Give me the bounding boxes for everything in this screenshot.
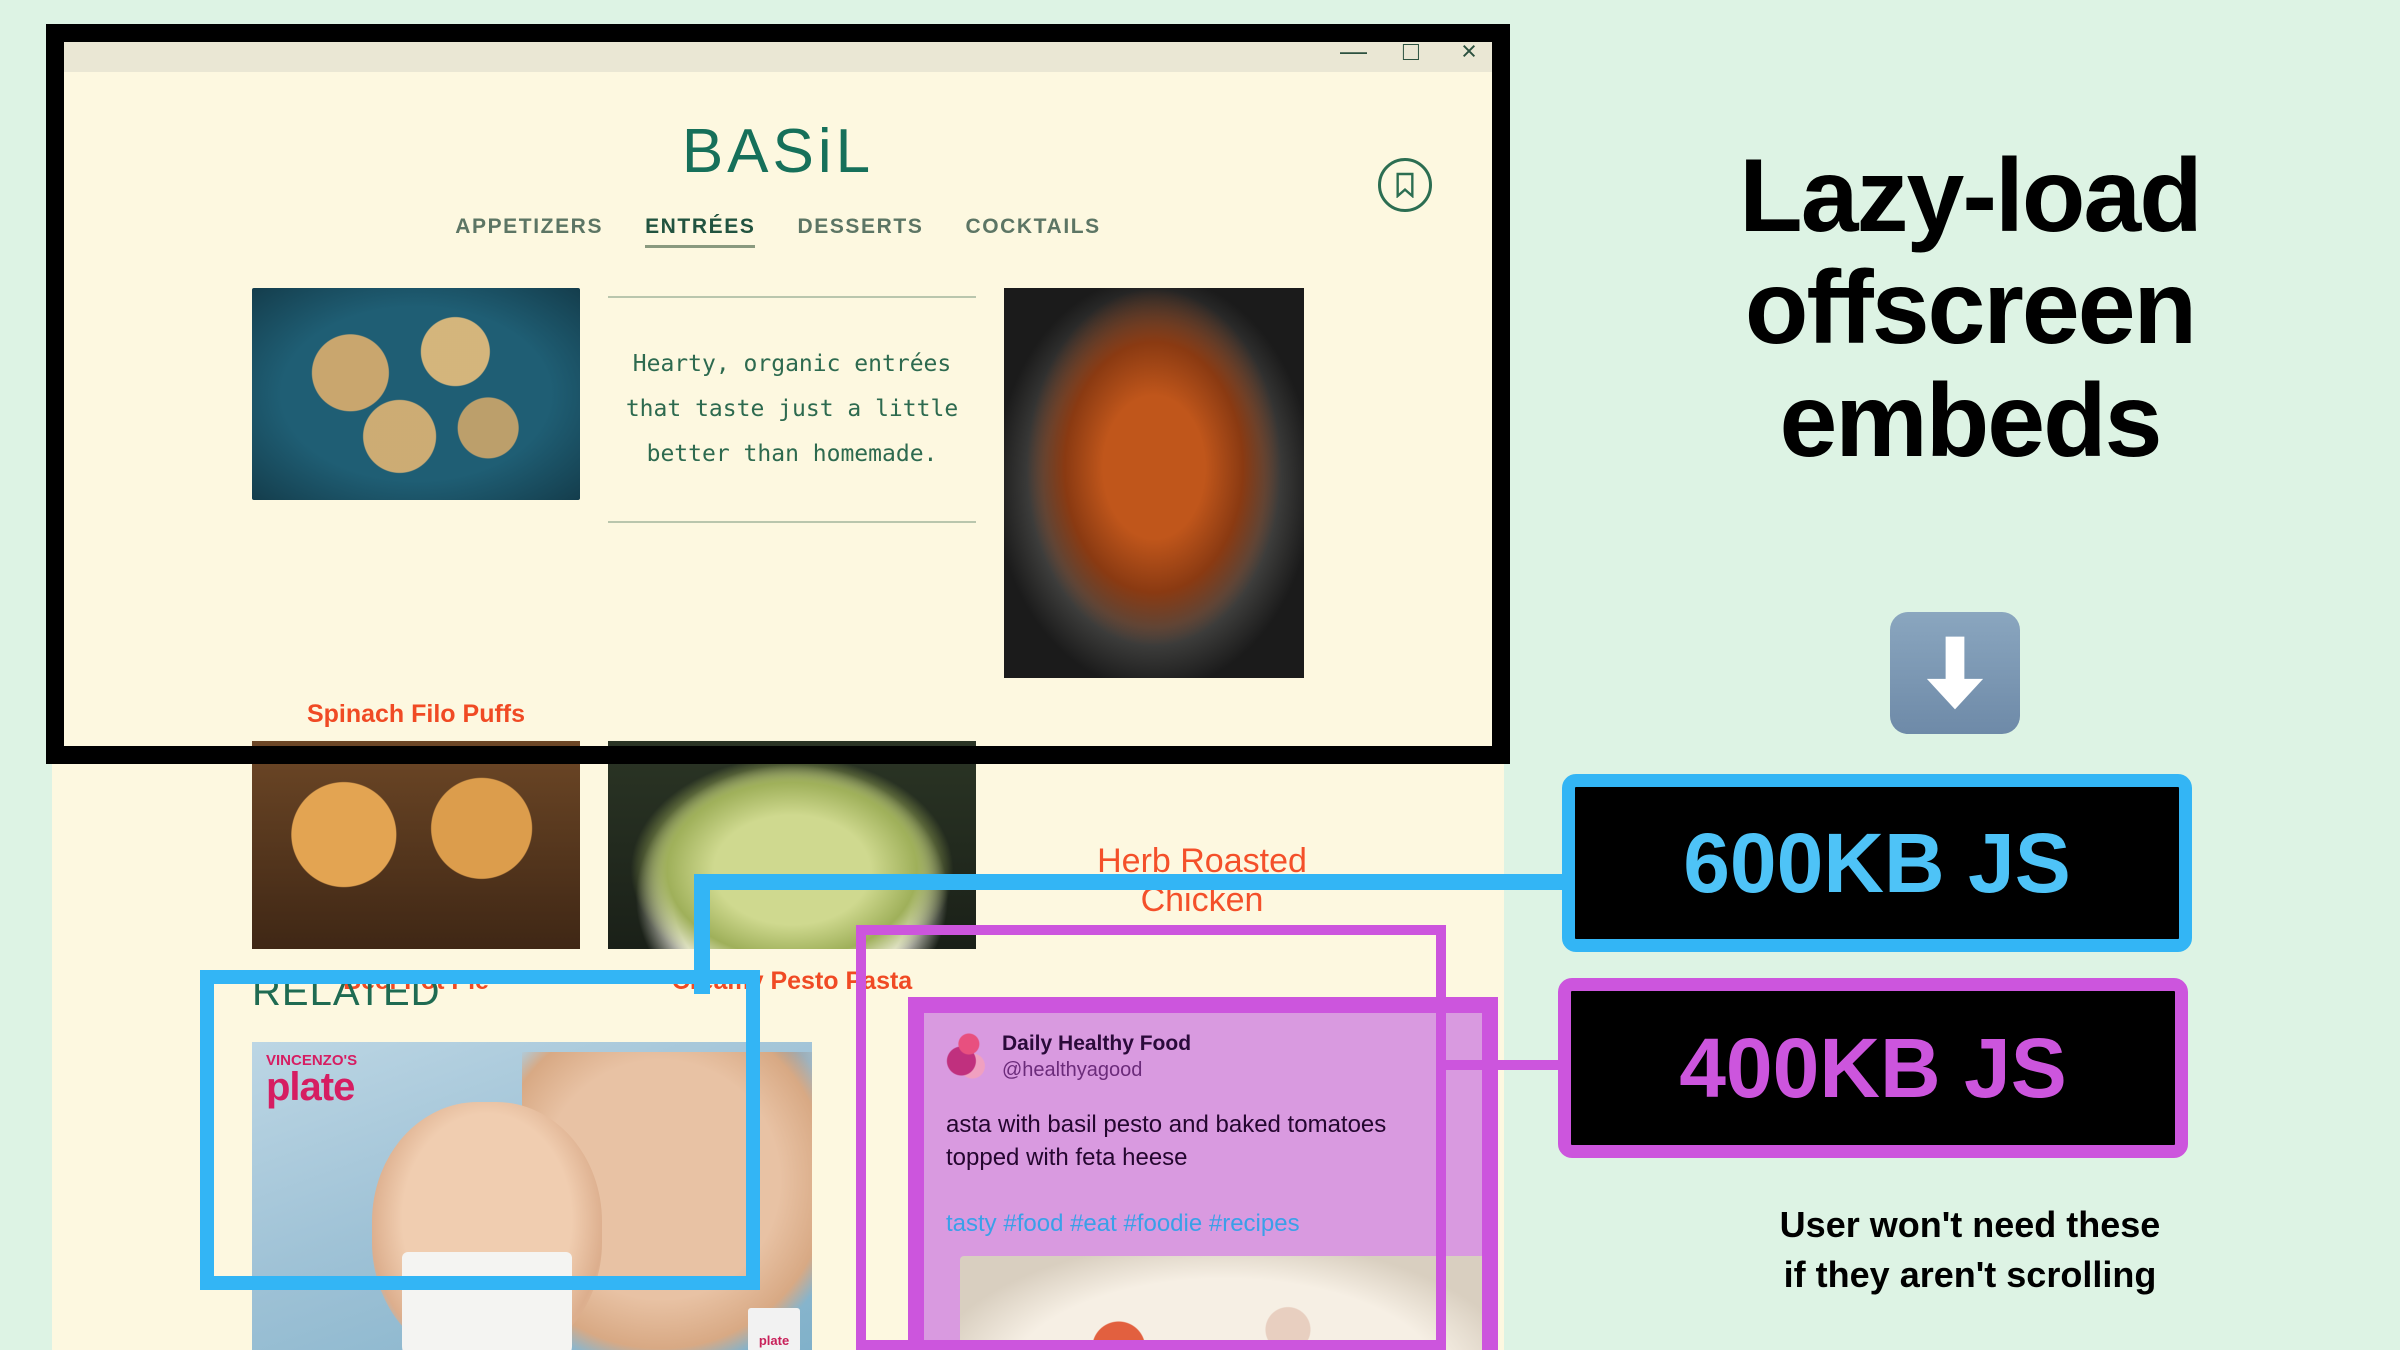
tagline-text: Hearty, organic entrées that taste just …: [608, 298, 976, 521]
tweet-embed-highlight: [856, 925, 1446, 1350]
minimize-icon[interactable]: —: [1340, 38, 1366, 65]
tagline-block: Hearty, organic entrées that taste just …: [608, 288, 976, 523]
headline-line-3: embeds: [1560, 365, 2380, 477]
nav-item-desserts[interactable]: DESSERTS: [797, 215, 923, 248]
connector-blue-horizontal: [694, 874, 1564, 890]
dish-image-potpie[interactable]: [252, 741, 580, 949]
badge-600kb-js: 600KB JS: [1562, 774, 2192, 952]
annotation-headline: Lazy-load offscreen embeds: [1560, 140, 2380, 477]
headline-line-1: Lazy-load: [1560, 140, 2380, 252]
tagline-line-1: Hearty, organic entrées: [618, 342, 966, 387]
nav-item-entrees[interactable]: ENTRÉES: [645, 215, 755, 248]
headline-line-2: offscreen: [1560, 252, 2380, 364]
annotation-footnote: User won't need these if they aren't scr…: [1560, 1200, 2380, 1301]
footnote-line-2: if they aren't scrolling: [1560, 1250, 2380, 1300]
divider-bottom: [608, 521, 976, 523]
connector-purple-horizontal: [1440, 1060, 1570, 1070]
tagline-line-3: better than homemade.: [618, 432, 966, 477]
site-content: BASiL APPETIZERS ENTRÉES DESSERTS COCKTA…: [52, 72, 1504, 996]
footnote-line-1: User won't need these: [1560, 1200, 2380, 1250]
maximize-icon[interactable]: □: [1398, 38, 1424, 65]
tagline-line-2: that taste just a little: [618, 387, 966, 432]
close-icon[interactable]: ×: [1456, 38, 1482, 65]
dish-image-filo[interactable]: [252, 288, 580, 500]
badge-400kb-js: 400KB JS: [1558, 978, 2188, 1158]
slide-canvas: — □ × BASiL APPETIZERS ENTRÉES DESSERTS …: [0, 0, 2400, 1350]
down-arrow-icon: [1890, 612, 2020, 734]
bookmark-icon[interactable]: [1378, 158, 1432, 212]
dish-grid-top: Hearty, organic entrées that taste just …: [52, 288, 1504, 678]
window-titlebar: — □ ×: [52, 30, 1504, 72]
dish-image-chicken[interactable]: [1004, 288, 1304, 678]
dish-caption-filo: Spinach Filo Puffs: [252, 700, 580, 729]
video-watermark: plate: [748, 1308, 800, 1350]
site-logo[interactable]: BASiL: [52, 116, 1504, 187]
nav-item-cocktails[interactable]: COCKTAILS: [965, 215, 1100, 248]
nav-item-appetizers[interactable]: APPETIZERS: [455, 215, 603, 248]
dish-image-pesto[interactable]: [608, 741, 976, 949]
video-embed-highlight: [200, 970, 760, 1290]
site-nav: APPETIZERS ENTRÉES DESSERTS COCKTAILS: [52, 215, 1504, 248]
